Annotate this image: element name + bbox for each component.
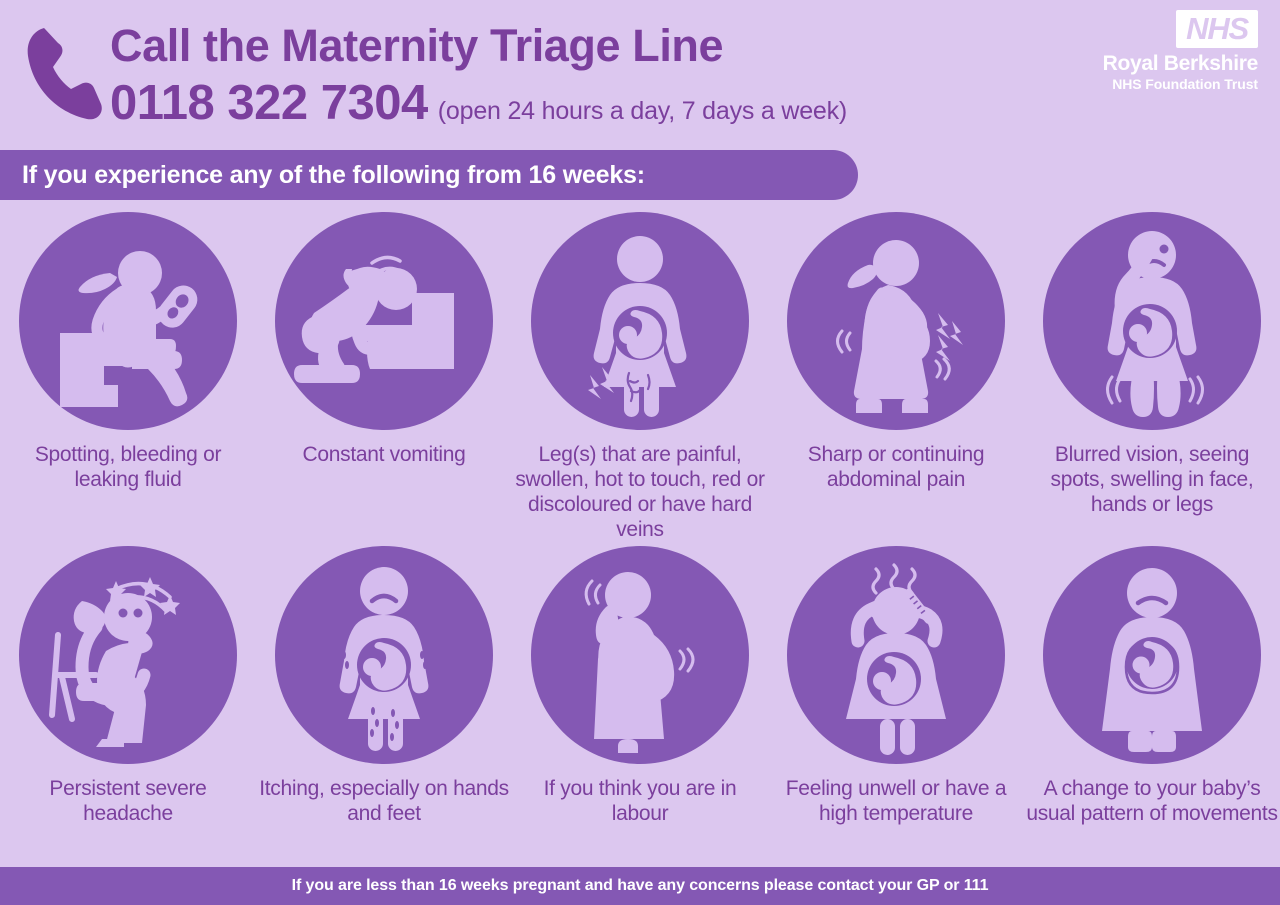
symptom-caption: Constant vomiting	[258, 442, 510, 467]
pregnant-woman-fever-thermometer-icon	[787, 546, 1005, 764]
symptom-card-spotting-bleeding-leaking[interactable]: Spotting, bleeding or leaking fluid	[0, 212, 256, 542]
symptom-caption: Persistent severe headache	[2, 776, 254, 826]
woman-kneeling-vomiting-into-toilet-icon	[275, 212, 493, 430]
symptom-card-painful-swollen-legs[interactable]: Leg(s) that are painful, swollen, hot to…	[512, 212, 768, 542]
pregnant-woman-itching-spots-icon	[275, 546, 493, 764]
symptom-caption: Blurred vision, seeing spots, swelling i…	[1026, 442, 1278, 517]
telephone-handset-icon	[24, 22, 102, 122]
woman-on-toilet-with-pad-icon	[19, 212, 237, 430]
pregnant-woman-rubbing-eye-swollen-legs-icon	[1043, 212, 1261, 430]
footer-text: If you are less than 16 weeks pregnant a…	[292, 877, 989, 895]
symptom-card-change-in-movements[interactable]: A change to your baby’s usual pattern of…	[1024, 546, 1280, 826]
symptom-card-in-labour[interactable]: If you think you are in labour	[512, 546, 768, 826]
nhs-mark-label: NHS	[1186, 13, 1248, 44]
symptom-card-high-temperature[interactable]: Feeling unwell or have a high temperatur…	[768, 546, 1024, 826]
symptom-card-itching-hands-feet[interactable]: Itching, especially on hands and feet	[256, 546, 512, 826]
pregnant-woman-clutching-abdomen-pain-icon	[787, 212, 1005, 430]
pregnant-woman-painful-legs-veins-icon	[531, 212, 749, 430]
header-text-block: Call the Maternity Triage Line 0118 322 …	[110, 18, 847, 144]
symptom-caption: Sharp or continuing abdominal pain	[770, 442, 1022, 492]
page-title: Call the Maternity Triage Line	[110, 18, 847, 74]
nhs-mark: NHS	[1176, 10, 1258, 48]
symptom-caption: Spotting, bleeding or leaking fluid	[2, 442, 254, 492]
phone-line: 0118 322 7304(open 24 hours a day, 7 day…	[110, 74, 847, 144]
footer-bar: If you are less than 16 weeks pregnant a…	[0, 867, 1280, 905]
woman-on-chair-headache-stars-icon	[19, 546, 237, 764]
nhs-logo: NHS Royal Berkshire NHS Foundation Trust	[1076, 10, 1258, 93]
symptom-caption: A change to your baby’s usual pattern of…	[1026, 776, 1278, 826]
symptom-card-blurred-vision-swelling[interactable]: Blurred vision, seeing spots, swelling i…	[1024, 212, 1280, 542]
symptom-card-abdominal-pain[interactable]: Sharp or continuing abdominal pain	[768, 212, 1024, 542]
symptom-caption: Feeling unwell or have a high temperatur…	[770, 776, 1022, 826]
trust-subtitle: NHS Foundation Trust	[1076, 76, 1258, 93]
poster: Call the Maternity Triage Line 0118 322 …	[0, 0, 1280, 905]
symptom-grid: Spotting, bleeding or leaking fluid	[0, 212, 1280, 826]
instruction-banner: If you experience any of the following f…	[0, 150, 858, 200]
symptom-caption: Leg(s) that are painful, swollen, hot to…	[514, 442, 766, 542]
instruction-banner-text: If you experience any of the following f…	[0, 161, 645, 190]
symptom-caption: Itching, especially on hands and feet	[258, 776, 510, 826]
poster-header: Call the Maternity Triage Line 0118 322 …	[0, 0, 1280, 148]
symptom-caption: If you think you are in labour	[514, 776, 766, 826]
symptom-row: Persistent severe headache	[0, 546, 1280, 826]
trust-name: Royal Berkshire	[1076, 51, 1258, 76]
phone-number[interactable]: 0118 322 7304	[110, 76, 428, 130]
symptom-card-severe-headache[interactable]: Persistent severe headache	[0, 546, 256, 826]
woman-in-labour-holding-back-icon	[531, 546, 749, 764]
opening-hours: (open 24 hours a day, 7 days a week)	[438, 97, 847, 125]
symptom-row: Spotting, bleeding or leaking fluid	[0, 212, 1280, 542]
pregnant-woman-baby-movements-icon	[1043, 546, 1261, 764]
symptom-card-constant-vomiting[interactable]: Constant vomiting	[256, 212, 512, 542]
